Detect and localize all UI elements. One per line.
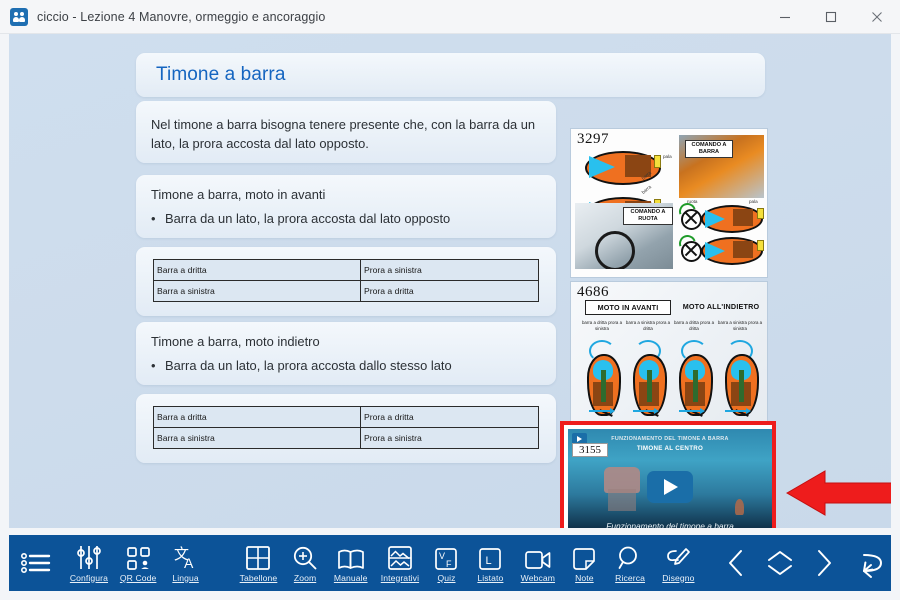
- toolbar-item-menu[interactable]: [9, 535, 63, 591]
- caption: barra a dritta prora a sinistra: [579, 320, 625, 332]
- nav-back-button[interactable]: [845, 535, 891, 591]
- nav-previous-button[interactable]: [715, 535, 757, 591]
- header-moto-indietro: MOTO ALL'INDIETRO: [675, 300, 767, 313]
- magnifier-plus-icon: [293, 544, 317, 570]
- table-row: Barra a dritta Prora a dritta: [154, 407, 539, 428]
- thumbnail-4686[interactable]: 4686 MOTO IN AVANTI MOTO ALL'INDIETRO ba…: [570, 281, 768, 423]
- qr-code-icon: [127, 544, 150, 570]
- toolbar-item-qr-code[interactable]: QR Code: [114, 535, 161, 591]
- maximize-icon[interactable]: [808, 0, 854, 33]
- pointer-arrow-icon: [787, 469, 891, 517]
- forward-heading: Timone a barra, moto in avanti: [151, 187, 325, 202]
- slide-title-card: Timone a barra: [136, 53, 765, 97]
- toolbar-label: Tabellone: [240, 573, 278, 583]
- boat-diagram: [701, 205, 763, 233]
- bullet-icon: •: [151, 211, 165, 226]
- svg-text:F: F: [446, 559, 452, 569]
- caption: barra a dritta prora a dritta: [671, 320, 717, 332]
- forward-bullet-row: • Barra da un lato, la prora accosta dal…: [151, 211, 450, 226]
- thumbnail-3155-art: FUNZIONAMENTO DEL TIMONE A BARRA TIMONE …: [568, 429, 772, 528]
- grid-icon: [246, 544, 270, 570]
- table-row: Barra a dritta Prora a sinistra: [154, 260, 539, 281]
- toolbar-label: Disegno: [662, 573, 694, 583]
- slide-content: Timone a barra Nel timone a barra bisogn…: [9, 34, 891, 528]
- toolbar-item-listato[interactable]: L Listato: [468, 535, 514, 591]
- pencil-icon: [665, 544, 691, 570]
- backward-table: Barra a dritta Prora a dritta Barra a si…: [153, 406, 539, 449]
- boat-diagram: [701, 237, 763, 265]
- thumbnail-3297-art: pala barra pala barra COMANDO A BARRA CO…: [571, 129, 767, 277]
- window-title: ciccio - Lezione 4 Manovre, ormeggio e a…: [37, 10, 325, 24]
- forward-table: Barra a dritta Prora a sinistra Barra a …: [153, 259, 539, 302]
- toolbar-item-zoom[interactable]: Zoom: [283, 535, 327, 591]
- chevron-left-icon: [726, 546, 746, 580]
- thumbnail-id: 3155: [572, 443, 608, 457]
- close-icon[interactable]: [854, 0, 900, 33]
- svg-text:L: L: [486, 555, 492, 567]
- sliders-icon: [77, 544, 101, 570]
- magnifier-icon: [618, 544, 642, 570]
- minimize-icon[interactable]: [762, 0, 808, 33]
- quiz-icon: V F: [435, 544, 457, 570]
- toolbar-item-note[interactable]: Note: [562, 535, 606, 591]
- slide-canvas[interactable]: Timone a barra Nel timone a barra bisogn…: [9, 34, 891, 528]
- backward-bullet-row: • Barra da un lato, la prora accosta dal…: [151, 358, 452, 373]
- webcam-icon: [525, 544, 551, 570]
- toolbar-label: Lingua: [172, 573, 198, 583]
- book-icon: [338, 544, 364, 570]
- toolbar-item-integrativi[interactable]: Integrativi: [374, 535, 425, 591]
- forward-table-card: Barra a dritta Prora a sinistra Barra a …: [136, 247, 556, 316]
- backward-bullet-text: Barra da un lato, la prora accosta dallo…: [165, 358, 452, 373]
- thumbnail-3297[interactable]: pala barra pala barra COMANDO A BARRA CO…: [570, 128, 768, 278]
- thumbnail-4686-art: 4686 MOTO IN AVANTI MOTO ALL'INDIETRO ba…: [571, 282, 767, 422]
- backward-table-card: Barra a dritta Prora a dritta Barra a si…: [136, 394, 556, 463]
- note-icon: [573, 544, 595, 570]
- play-icon[interactable]: [647, 471, 693, 503]
- intro-card: Nel timone a barra bisogna tenere presen…: [136, 101, 556, 163]
- toolbar-label: QR Code: [120, 573, 157, 583]
- toolbar-label: Quiz: [437, 573, 455, 583]
- back-arrow-icon: [853, 546, 883, 580]
- toolbar-item-disegno[interactable]: Disegno: [654, 535, 703, 591]
- listato-icon: L: [479, 544, 501, 570]
- thumbnail-id: 3297: [577, 131, 609, 148]
- toolbar-label: Zoom: [294, 573, 316, 583]
- toolbar-item-quiz[interactable]: V F Quiz: [425, 535, 467, 591]
- caption: barra a sinistra prora a sinistra: [717, 320, 763, 332]
- boat-diagram: [585, 151, 661, 185]
- bullet-icon: •: [151, 358, 165, 373]
- photo-label-ruota: COMANDO A RUOTA: [623, 207, 673, 225]
- chevron-updown-icon: [765, 546, 795, 580]
- toolbar-item-configura[interactable]: Configura: [63, 535, 114, 591]
- intro-text: Nel timone a barra bisogna tenere presen…: [151, 116, 546, 153]
- toolbar-item-webcam[interactable]: Webcam: [513, 535, 562, 591]
- toolbar-item-tabellone[interactable]: Tabellone: [234, 535, 283, 591]
- window-controls: [762, 0, 900, 33]
- contacts-icon: [10, 8, 28, 26]
- list-icon: [21, 546, 51, 580]
- toolbar-item-manuale[interactable]: Manuale: [327, 535, 374, 591]
- chevron-right-icon: [814, 546, 834, 580]
- images-icon: [388, 544, 412, 570]
- title-bar: ciccio - Lezione 4 Manovre, ormeggio e a…: [0, 0, 900, 34]
- toolbar-label: Webcam: [521, 573, 555, 583]
- svg-text:V: V: [439, 551, 445, 561]
- bottom-toolbar: Configura QR Code 文 A Lingu: [9, 535, 891, 591]
- thumbnail-id: 4686: [577, 284, 609, 301]
- decor-shape: [735, 499, 744, 515]
- header-moto-avanti: MOTO IN AVANTI: [585, 300, 671, 315]
- svg-text:A: A: [184, 555, 194, 571]
- forward-bullet-text: Barra da un lato, la prora accosta dal l…: [165, 211, 450, 226]
- cell: Barra a dritta: [154, 407, 361, 428]
- page-title: Timone a barra: [136, 64, 286, 86]
- cell: Prora a sinistra: [361, 428, 539, 449]
- backward-section-card: Timone a barra, moto indietro • Barra da…: [136, 322, 556, 385]
- photo-label-barra: COMANDO A BARRA: [685, 140, 733, 158]
- nav-next-button[interactable]: [803, 535, 845, 591]
- toolbar-label: Ricerca: [615, 573, 645, 583]
- table-row: Barra a sinistra Prora a dritta: [154, 281, 539, 302]
- backward-heading: Timone a barra, moto indietro: [151, 334, 320, 349]
- toolbar-label: Integrativi: [381, 573, 419, 583]
- cell: Prora a sinistra: [361, 260, 539, 281]
- nav-updown-button[interactable]: [757, 535, 803, 591]
- photo-tiller: COMANDO A BARRA: [679, 135, 764, 198]
- photo-wheel: COMANDO A RUOTA: [575, 203, 673, 269]
- toolbar-item-ricerca[interactable]: Ricerca: [606, 535, 653, 591]
- toolbar-label: Note: [575, 573, 594, 583]
- cell: Prora a dritta: [361, 407, 539, 428]
- video-poster: FUNZIONAMENTO DEL TIMONE A BARRA TIMONE …: [568, 429, 772, 528]
- toolbar-label: Configura: [70, 573, 108, 583]
- cell: Barra a dritta: [154, 260, 361, 281]
- cell: Barra a sinistra: [154, 428, 361, 449]
- cell: Prora a dritta: [361, 281, 539, 302]
- toolbar-label: Listato: [477, 573, 503, 583]
- caption: barra a sinistra prora a dritta: [625, 320, 671, 332]
- application-window: ciccio - Lezione 4 Manovre, ormeggio e a…: [0, 0, 900, 600]
- decor-shape: [608, 489, 636, 511]
- thumbnail-3155-selected[interactable]: FUNZIONAMENTO DEL TIMONE A BARRA TIMONE …: [560, 421, 776, 528]
- forward-section-card: Timone a barra, moto in avanti • Barra d…: [136, 175, 556, 238]
- translate-icon: 文 A: [173, 544, 199, 570]
- video-caption: Funzionamento del timone a barra: [568, 521, 772, 528]
- toolbar-label: Manuale: [334, 573, 368, 583]
- video-overlay-title: FUNZIONAMENTO DEL TIMONE A BARRA: [568, 436, 772, 442]
- table-row: Barra a sinistra Prora a sinistra: [154, 428, 539, 449]
- toolbar-item-lingua[interactable]: 文 A Lingua: [162, 535, 209, 591]
- cell: Barra a sinistra: [154, 281, 361, 302]
